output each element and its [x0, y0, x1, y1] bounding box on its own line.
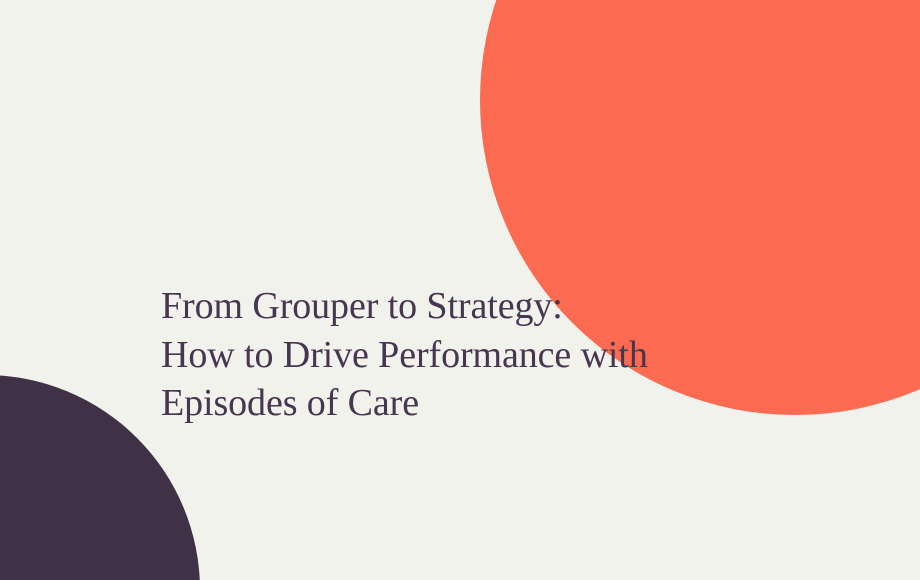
title-slide: From Grouper to Strategy: How to Drive P… — [0, 0, 920, 580]
page-title: From Grouper to Strategy: How to Drive P… — [161, 282, 781, 428]
title-line-3: Episodes of Care — [161, 379, 781, 428]
title-line-2: How to Drive Performance with — [161, 331, 781, 380]
title-line-1: From Grouper to Strategy: — [161, 282, 781, 331]
